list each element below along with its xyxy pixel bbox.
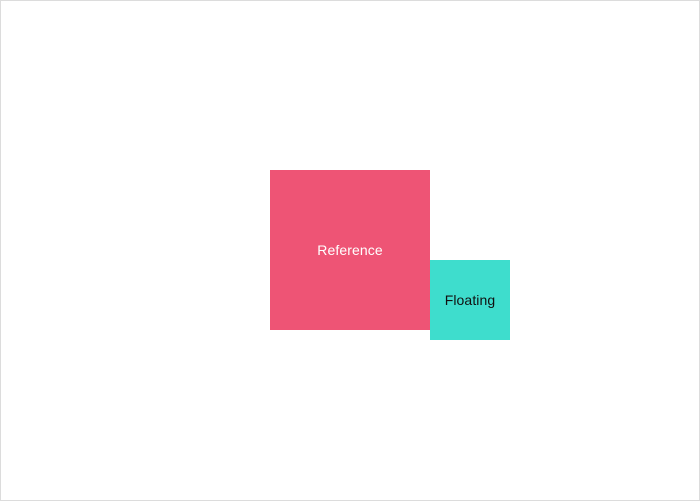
diagram-canvas: Reference Floating <box>0 0 700 501</box>
reference-box[interactable]: Reference <box>270 170 430 330</box>
floating-box-label: Floating <box>445 293 496 307</box>
reference-box-label: Reference <box>317 243 383 257</box>
floating-box[interactable]: Floating <box>430 260 510 340</box>
